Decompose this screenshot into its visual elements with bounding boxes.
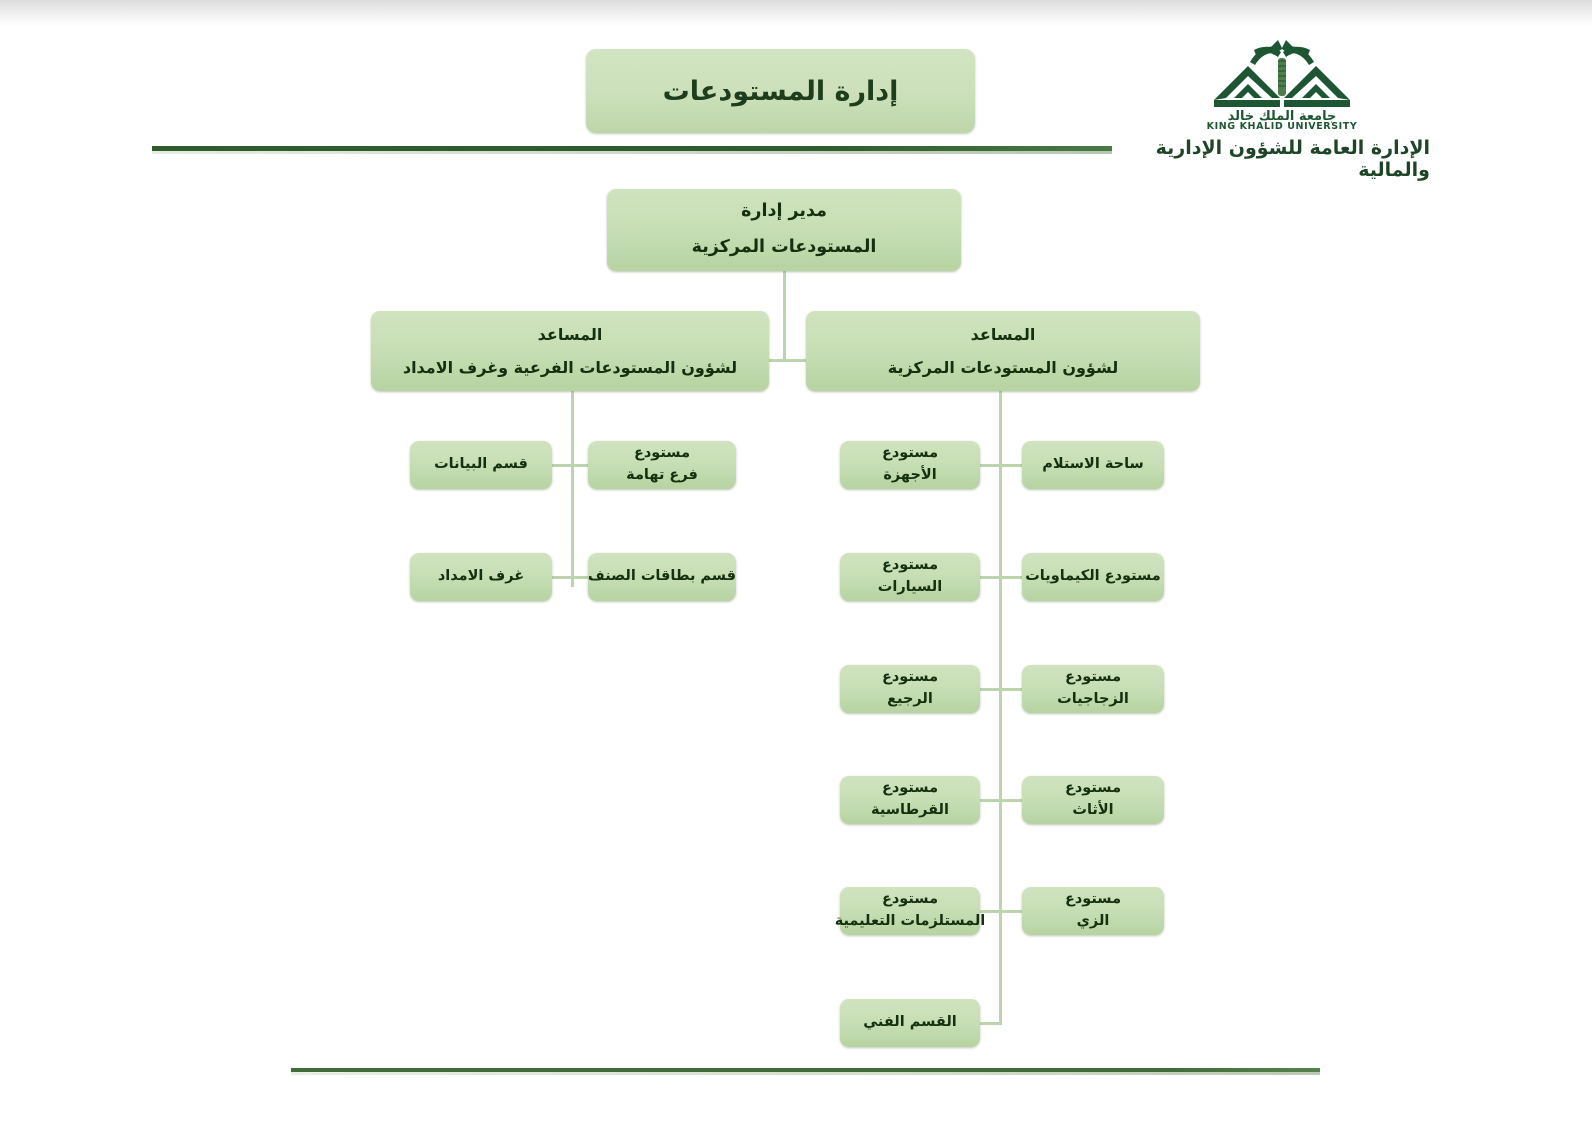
node-line: الزجاجيات (1057, 690, 1129, 710)
connector-right-branch-stem (999, 391, 1002, 1023)
node-glassware-warehouse[interactable]: مستودع الزجاجيات (1022, 665, 1164, 713)
footer-divider-shadow (291, 1072, 1320, 1075)
node-line: لشؤون المستودعات المركزية (888, 357, 1119, 379)
node-scrap-warehouse[interactable]: مستودع الرجيع (840, 665, 980, 713)
node-data-department[interactable]: قسم البيانات (410, 441, 552, 489)
node-line: القسم الفني (863, 1013, 956, 1033)
org-chart: مدير إدارة المستودعات المركزية المساعد ل… (0, 0, 1592, 1130)
connector-right-row-6 (980, 1022, 1002, 1025)
node-line: المستلزمات التعليمية (835, 912, 986, 932)
node-root-director[interactable]: مدير إدارة المستودعات المركزية (607, 189, 961, 271)
node-line: مستودع (634, 444, 690, 464)
node-line: مدير إدارة (741, 200, 827, 224)
connector-root-split (769, 359, 809, 362)
node-tihama-branch-warehouse[interactable]: مستودع فرع تهامة (588, 441, 736, 489)
node-assistant-central-warehouses[interactable]: المساعد لشؤون المستودعات المركزية (806, 311, 1200, 391)
node-line: الأثاث (1072, 801, 1113, 821)
node-line: مستودع الكيماويات (1025, 567, 1161, 587)
node-line: مستودع (882, 668, 938, 688)
node-line: المساعد (538, 324, 603, 346)
node-line: الرجيع (887, 690, 933, 710)
node-line: المساعد (971, 324, 1036, 346)
node-line: القرطاسية (871, 801, 949, 821)
node-line: قسم البيانات (434, 455, 528, 475)
connector-left-branch-stem (571, 391, 574, 587)
node-line: المستودعات المركزية (692, 236, 877, 260)
node-line: مستودع (882, 779, 938, 799)
node-chemicals-warehouse[interactable]: مستودع الكيماويات (1022, 553, 1164, 601)
node-uniform-warehouse[interactable]: مستودع الزي (1022, 887, 1164, 935)
node-line: لشؤون المستودعات الفرعية وغرف الامداد (403, 357, 737, 379)
connector-root-stem (783, 271, 786, 361)
node-technical-department[interactable]: القسم الفني (840, 999, 980, 1047)
node-line: مستودع (1065, 890, 1121, 910)
node-line: قسم بطاقات الصنف (588, 567, 736, 587)
node-equipment-warehouse[interactable]: مستودع الأجهزة (840, 441, 980, 489)
node-supply-rooms[interactable]: غرف الامداد (410, 553, 552, 601)
node-line: السيارات (878, 578, 942, 598)
node-educational-supplies-warehouse[interactable]: مستودع المستلزمات التعليمية (840, 887, 980, 935)
node-assistant-sub-warehouses[interactable]: المساعد لشؤون المستودعات الفرعية وغرف ال… (371, 311, 769, 391)
node-line: مستودع (882, 444, 938, 464)
node-line: الأجهزة (883, 466, 936, 486)
node-stationery-warehouse[interactable]: مستودع القرطاسية (840, 776, 980, 824)
node-vehicles-warehouse[interactable]: مستودع السيارات (840, 553, 980, 601)
node-line: ساحة الاستلام (1042, 455, 1144, 475)
node-line: مستودع (1065, 779, 1121, 799)
node-line: مستودع (1065, 668, 1121, 688)
node-line: مستودع (882, 556, 938, 576)
node-line: غرف الامداد (438, 567, 524, 587)
node-line: مستودع (882, 890, 938, 910)
node-item-cards-department[interactable]: قسم بطاقات الصنف (588, 553, 736, 601)
node-furniture-warehouse[interactable]: مستودع الأثاث (1022, 776, 1164, 824)
node-receiving-yard[interactable]: ساحة الاستلام (1022, 441, 1164, 489)
slide-page: إدارة المستودعات (0, 0, 1592, 1130)
node-line: الزي (1077, 912, 1110, 932)
node-line: فرع تهامة (626, 466, 698, 486)
